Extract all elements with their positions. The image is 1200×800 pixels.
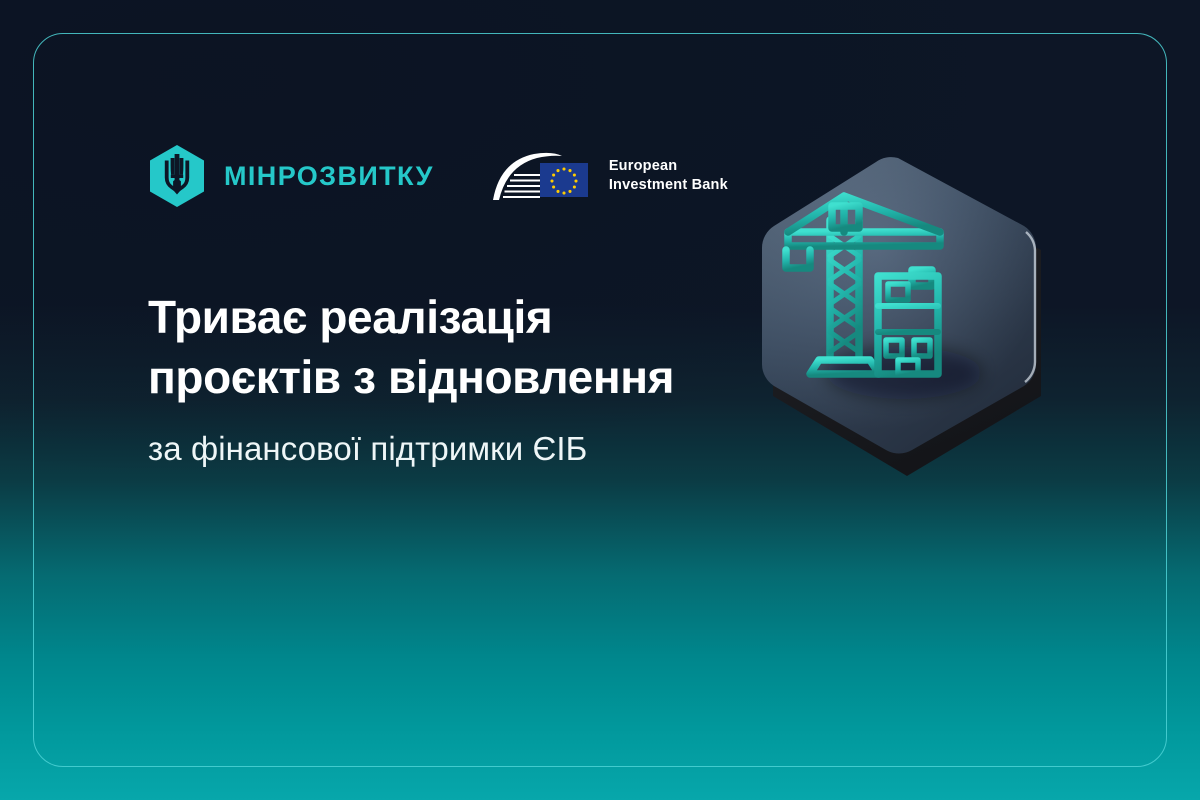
eib-logo: European Investment Bank [490, 147, 728, 205]
ministry-wordmark: МІНРОЗВИТКУ [224, 161, 434, 192]
headline-line-1: Триває реалізація [148, 288, 768, 348]
rounded-hexagon-3d-shape [726, 128, 1076, 488]
eib-wordmark-line2: Investment Bank [609, 176, 728, 195]
ministry-logo: МІНРОЗВИТКУ [148, 144, 434, 208]
ukraine-trident-hexagon-icon [148, 144, 206, 208]
headline-line-2: проєктів з відновлення [148, 348, 768, 408]
logo-row: МІНРОЗВИТКУ [148, 144, 728, 208]
page-subtitle: за фінансової підтримки ЄІБ [148, 428, 587, 471]
eib-arc-eu-flag-icon [490, 147, 598, 205]
eib-wordmark: European Investment Bank [609, 157, 728, 195]
page-title: Триває реалізація проєктів з відновлення [148, 288, 768, 408]
poster-canvas: МІНРОЗВИТКУ [0, 0, 1200, 800]
eib-wordmark-line1: European [609, 157, 728, 176]
construction-badge [726, 128, 1076, 488]
